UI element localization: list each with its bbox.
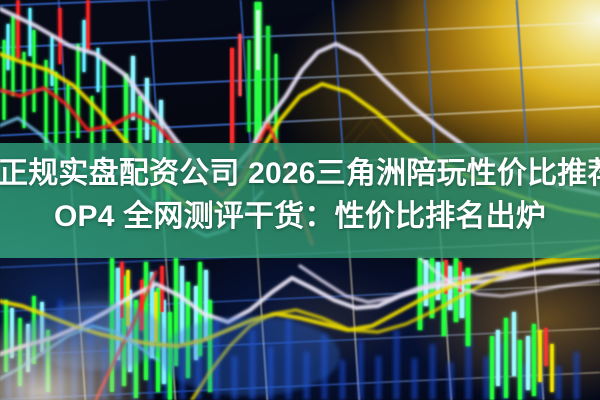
page-title: 正规实盘配资公司 2026三角洲陪玩性价比推荐T OP4 全网测评干货：性价比排… bbox=[0, 152, 600, 238]
headline-line-1: 正规实盘配资公司 2026三角洲陪玩性价比推荐T bbox=[0, 152, 600, 195]
headline-line-2: OP4 全网测评干货：性价比排名出炉 bbox=[0, 195, 600, 238]
banner-image: 正规实盘配资公司 2026三角洲陪玩性价比推荐T OP4 全网测评干货：性价比排… bbox=[0, 0, 600, 400]
